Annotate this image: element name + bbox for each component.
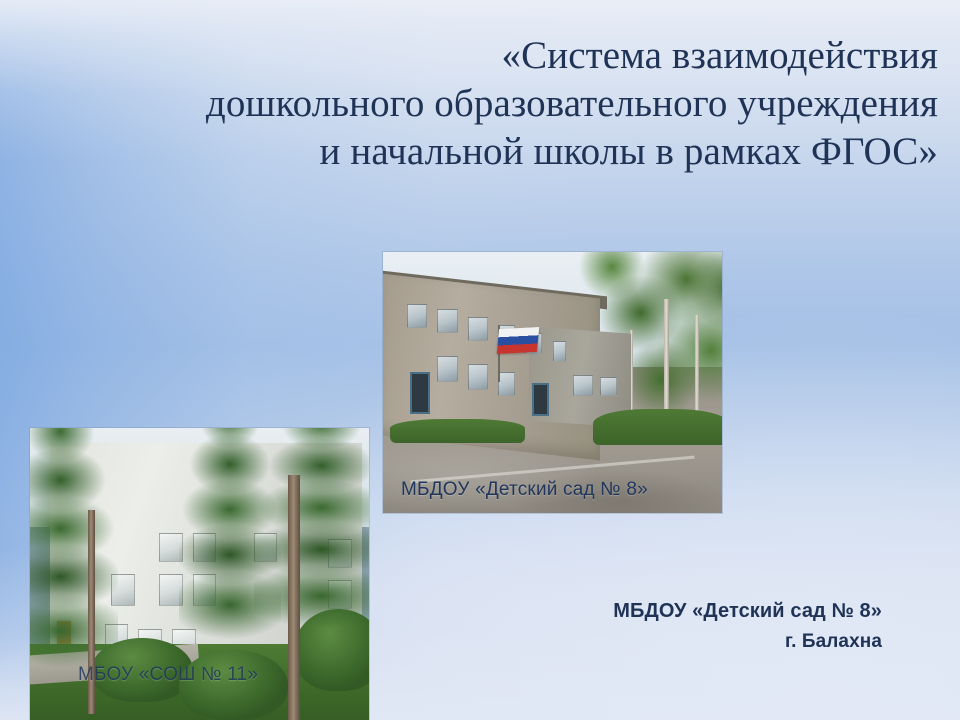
photo-kindergarten: МБДОУ «Детский сад № 8» <box>383 252 722 513</box>
window <box>468 364 488 390</box>
grass-strip <box>593 409 722 446</box>
entrance-door <box>532 383 549 417</box>
window <box>437 356 457 382</box>
photo-caption-school: МБОУ «СОШ № 11» <box>78 664 258 686</box>
window <box>573 375 593 396</box>
window <box>437 309 457 332</box>
slide-title: «Система взаимодействия дошкольного обра… <box>26 32 938 176</box>
presentation-slide: «Система взаимодействия дошкольного обра… <box>0 0 960 720</box>
grass-strip <box>390 419 526 442</box>
tree-trunk <box>288 475 300 720</box>
kindergarten-scene <box>383 252 722 513</box>
photo-school: МБОУ «СОШ № 11» <box>30 428 369 720</box>
conifer-tree <box>30 428 118 679</box>
window <box>468 317 488 340</box>
organization-city: г. Балахна <box>482 626 882 658</box>
window <box>553 341 567 362</box>
russian-flag <box>497 327 539 354</box>
organization-name: МБДОУ «Детский сад № 8» <box>482 596 882 626</box>
window <box>600 377 617 395</box>
window <box>407 304 427 327</box>
organization-block: МБДОУ «Детский сад № 8» г. Балахна <box>482 596 882 658</box>
entrance-door <box>410 372 430 414</box>
photo-caption-kindergarten: МБДОУ «Детский сад № 8» <box>401 479 648 501</box>
conifer-tree <box>254 428 369 638</box>
window <box>498 372 515 395</box>
